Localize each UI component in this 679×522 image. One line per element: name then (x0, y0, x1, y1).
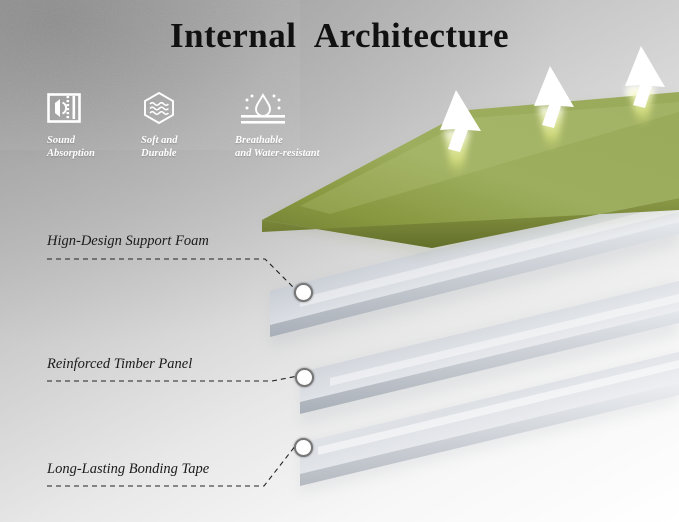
infographic-canvas: Internal Architecture (0, 0, 679, 522)
callout-label: Long-Lasting Bonding Tape (47, 461, 209, 477)
feature-list: Sound Absorption Soft and Durable (47, 88, 353, 160)
feature-sound-absorption: Sound Absorption (47, 88, 119, 160)
callout-marker-bonding-tape (294, 438, 313, 457)
callout-timber-panel: Reinforced Timber Panel (47, 355, 192, 373)
soft-durable-wave-hexagon-icon (141, 88, 213, 128)
callout-label: Reinforced Timber Panel (47, 356, 192, 372)
sound-absorption-icon (47, 88, 119, 128)
exploded-layer-stack (0, 0, 679, 522)
callout-label: Hign-Design Support Foam (47, 233, 209, 249)
feature-label: Breathable and Water-resistant (235, 135, 353, 160)
feature-breathable-water-resistant: Breathable and Water-resistant (235, 88, 353, 160)
callout-bonding-tape: Long-Lasting Bonding Tape (47, 460, 209, 478)
callout-marker-timber-panel (295, 368, 314, 387)
feature-soft-and-durable: Soft and Durable (141, 88, 213, 160)
callout-marker-support-foam (294, 283, 313, 302)
feature-label: Sound Absorption (47, 135, 119, 160)
callout-support-foam: Hign-Design Support Foam (47, 232, 209, 250)
feature-label: Soft and Durable (141, 135, 213, 160)
breathable-water-resistant-droplet-icon (235, 88, 353, 128)
